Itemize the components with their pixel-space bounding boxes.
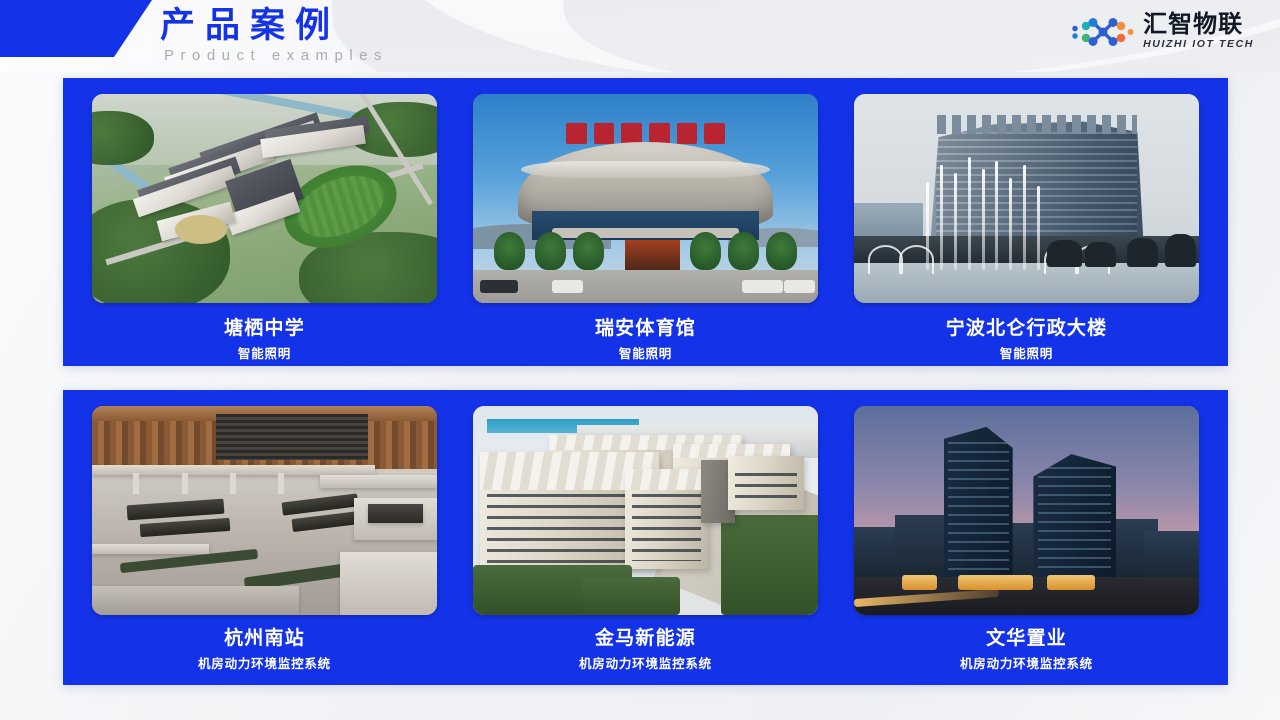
- case-card[interactable]: 金马新能源 机房动力环境监控系统: [473, 406, 818, 685]
- page-title: 产品案例 Product examples: [160, 6, 388, 66]
- case-title: 杭州南站: [224, 627, 305, 651]
- brand-logo-text: 汇智物联 HUIZHI IOT TECH: [1143, 12, 1254, 51]
- case-card[interactable]: 宁波北仑行政大楼 智能照明: [854, 94, 1199, 366]
- case-card[interactable]: 文华置业 机房动力环境监控系统: [854, 406, 1199, 685]
- case-panel-bottom: 杭州南站 机房动力环境监控系统: [63, 390, 1228, 685]
- page-title-cn: 产品案例: [160, 6, 388, 46]
- case-card[interactable]: 塘栖中学 智能照明: [92, 94, 437, 366]
- slide-root: 产品案例 Product examples: [0, 0, 1280, 720]
- case-photo-government-building: [854, 94, 1199, 303]
- molecule-network-icon: [1071, 13, 1135, 51]
- case-photo-office-towers-dusk: [854, 406, 1199, 615]
- case-title: 金马新能源: [595, 627, 696, 651]
- case-card[interactable]: 杭州南站 机房动力环境监控系统: [92, 406, 437, 685]
- case-title: 宁波北仑行政大楼: [946, 317, 1108, 341]
- case-card[interactable]: 瑞安体育馆 智能照明: [473, 94, 818, 366]
- case-subtitle: 机房动力环境监控系统: [579, 656, 712, 673]
- brand-name-en: HUIZHI IOT TECH: [1143, 37, 1254, 51]
- case-subtitle: 智能照明: [1000, 346, 1053, 363]
- case-photo-sports-arena: [473, 94, 818, 303]
- slide-header: 产品案例 Product examples: [0, 0, 1280, 72]
- brand-logo: 汇智物联 HUIZHI IOT TECH: [1071, 12, 1254, 51]
- case-subtitle: 智能照明: [238, 346, 291, 363]
- case-photo-railway-station: [92, 406, 437, 615]
- case-photo-industrial-park: [473, 406, 818, 615]
- case-subtitle: 机房动力环境监控系统: [198, 656, 331, 673]
- arena-roof-signage: [566, 123, 725, 144]
- case-title: 文华置业: [986, 627, 1067, 651]
- case-subtitle: 智能照明: [619, 346, 672, 363]
- case-photo-school-campus: [92, 94, 437, 303]
- case-subtitle: 机房动力环境监控系统: [960, 656, 1093, 673]
- header-accent-block: [0, 0, 152, 57]
- page-title-en: Product examples: [160, 46, 388, 66]
- case-panel-top: 塘栖中学 智能照明: [63, 78, 1228, 366]
- case-title: 瑞安体育馆: [595, 317, 696, 341]
- case-title: 塘栖中学: [224, 317, 305, 341]
- brand-name-cn: 汇智物联: [1143, 12, 1254, 37]
